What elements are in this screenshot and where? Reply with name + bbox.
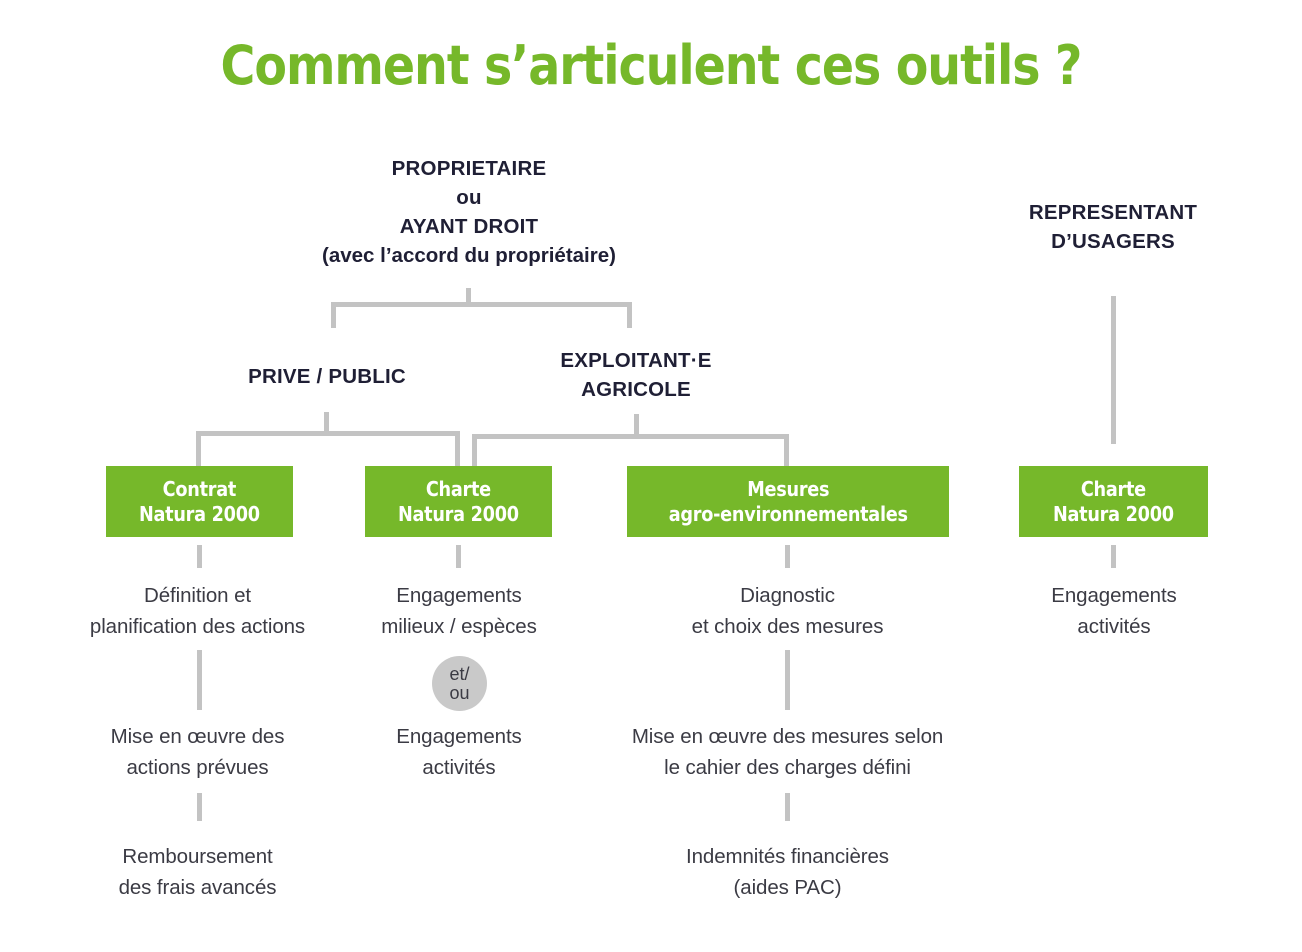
step-charte-usagers-1: Engagements activités: [995, 580, 1233, 642]
box-contrat-line1: Contrat: [139, 477, 260, 502]
box-charte-natura-2000-usagers[interactable]: Charte Natura 2000: [1019, 466, 1208, 537]
step-contrat-3-line1: Remboursement: [55, 841, 340, 872]
connector-mesures-step1-step2: [785, 650, 790, 710]
et-ou-line2: ou: [449, 684, 469, 703]
node-farmer-line2: AGRICOLE: [516, 375, 756, 404]
connector-owner-right-drop: [627, 302, 632, 328]
box-charte-usagers-line1: Charte: [1053, 477, 1174, 502]
connector-et-ou-circle: et/ ou: [432, 656, 487, 711]
box-mesures-agro-environnementales[interactable]: Mesures agro-environnementales: [627, 466, 949, 537]
node-farmer: EXPLOITANT·E AGRICOLE: [516, 346, 756, 404]
step-charte-usagers-1-line1: Engagements: [995, 580, 1233, 611]
node-owner-line3: AYANT DROIT: [269, 212, 669, 241]
connector-private-public-left-drop: [196, 431, 201, 467]
connector-private-public-right-drop: [455, 431, 460, 467]
box-charte-usagers-line2: Natura 2000: [1053, 502, 1174, 527]
step-mesures-3-line2: (aides PAC): [620, 872, 955, 903]
node-owner-line2: ou: [269, 183, 669, 212]
connector-charte-usagers-to-step1: [1111, 545, 1116, 568]
connector-farmer-left-drop: [472, 434, 477, 467]
step-charte-2: Engagements activités: [340, 721, 578, 783]
box-charte-line2: Natura 2000: [398, 502, 519, 527]
step-mesures-2: Mise en œuvre des mesures selon le cahie…: [600, 721, 975, 783]
box-mesures-line1: Mesures: [668, 477, 907, 502]
step-charte-2-line1: Engagements: [340, 721, 578, 752]
node-representative-line2: D’USAGERS: [993, 227, 1233, 256]
step-contrat-3-line2: des frais avancés: [55, 872, 340, 903]
step-charte-2-line2: activités: [340, 752, 578, 783]
connector-contrat-step2-step3: [197, 793, 202, 821]
step-contrat-2: Mise en œuvre des actions prévues: [55, 721, 340, 783]
step-mesures-2-line2: le cahier des charges défini: [600, 752, 975, 783]
box-contrat-natura-2000[interactable]: Contrat Natura 2000: [106, 466, 293, 537]
node-owner-line1: PROPRIETAIRE: [269, 154, 669, 183]
et-ou-line1: et/: [449, 665, 469, 684]
step-contrat-1: Définition et planification des actions: [55, 580, 340, 642]
connector-contrat-to-step1: [197, 545, 202, 568]
step-charte-1-line1: Engagements: [340, 580, 578, 611]
node-private-public-label: PRIVE / PUBLIC: [207, 362, 447, 391]
step-charte-usagers-1-line2: activités: [995, 611, 1233, 642]
connector-charte-to-step1: [456, 545, 461, 568]
box-charte-natura-2000[interactable]: Charte Natura 2000: [365, 466, 552, 537]
node-representative-line1: REPRESENTANT: [993, 198, 1233, 227]
connector-farmer-stub: [634, 414, 639, 435]
step-charte-1: Engagements milieux / espèces: [340, 580, 578, 642]
connector-private-public-stub: [324, 412, 329, 432]
step-contrat-1-line1: Définition et: [55, 580, 340, 611]
node-farmer-line1: EXPLOITANT·E: [516, 346, 756, 375]
step-charte-1-line2: milieux / espèces: [340, 611, 578, 642]
diagram-canvas: Comment s’articulent ces outils ? PROPRI…: [0, 0, 1302, 952]
step-mesures-1-line2: et choix des mesures: [620, 611, 955, 642]
page-title: Comment s’articulent ces outils ?: [78, 34, 1224, 97]
connector-owner-left-drop: [331, 302, 336, 328]
box-contrat-line2: Natura 2000: [139, 502, 260, 527]
node-owner-line4: (avec l’accord du propriétaire): [269, 241, 669, 270]
connector-farmer-right-drop: [784, 434, 789, 467]
step-mesures-3: Indemnités financières (aides PAC): [620, 841, 955, 903]
node-representative: REPRESENTANT D’USAGERS: [993, 198, 1233, 256]
connector-private-public-bar: [196, 431, 460, 436]
step-mesures-1-line1: Diagnostic: [620, 580, 955, 611]
connector-representative-line: [1111, 296, 1116, 444]
node-private-public: PRIVE / PUBLIC: [207, 362, 447, 391]
step-mesures-2-line1: Mise en œuvre des mesures selon: [600, 721, 975, 752]
connector-contrat-step1-step2: [197, 650, 202, 710]
connector-mesures-to-step1: [785, 545, 790, 568]
step-contrat-2-line1: Mise en œuvre des: [55, 721, 340, 752]
step-mesures-3-line1: Indemnités financières: [620, 841, 955, 872]
connector-farmer-bar: [472, 434, 789, 439]
step-contrat-3: Remboursement des frais avancés: [55, 841, 340, 903]
connector-mesures-step2-step3: [785, 793, 790, 821]
box-charte-line1: Charte: [398, 477, 519, 502]
connector-owner-bar: [331, 302, 632, 307]
step-contrat-1-line2: planification des actions: [55, 611, 340, 642]
step-mesures-1: Diagnostic et choix des mesures: [620, 580, 955, 642]
box-mesures-line2: agro-environnementales: [668, 502, 907, 527]
step-contrat-2-line2: actions prévues: [55, 752, 340, 783]
node-owner: PROPRIETAIRE ou AYANT DROIT (avec l’acco…: [269, 154, 669, 270]
